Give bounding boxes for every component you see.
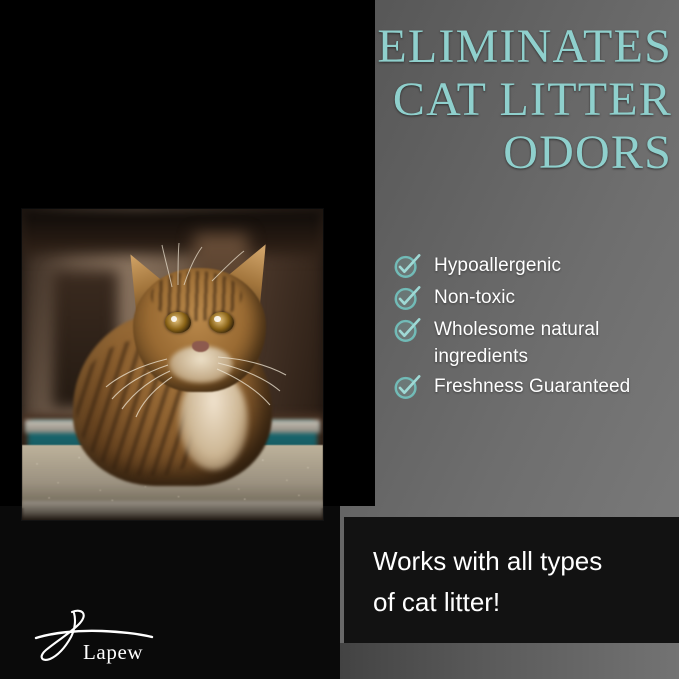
- photo-canvas: [22, 209, 323, 520]
- check-circle-icon: [392, 371, 422, 402]
- bottom-gradient-strip: [340, 643, 679, 679]
- headline-line-1: ELIMINATES: [290, 20, 672, 73]
- callout-line-2: of cat litter!: [373, 582, 665, 623]
- benefit-item: Hypoallergenic: [392, 252, 670, 281]
- photo-litter-tray-edge: [22, 501, 323, 520]
- brand-logo: Lapew: [28, 604, 178, 666]
- photo-background-shadow: [22, 209, 323, 262]
- benefit-label: Wholesome natural ingredients: [434, 316, 670, 370]
- check-circle-icon: [392, 314, 422, 345]
- benefit-item: Non-toxic: [392, 284, 670, 313]
- headline-line-3: ODORS: [290, 126, 672, 179]
- benefit-item: Wholesome natural ingredients: [392, 316, 670, 370]
- headline-line-2: CAT LITTER: [290, 73, 672, 126]
- callout-box: Works with all types of cat litter!: [344, 517, 679, 643]
- photo-kitten-eye-left: [165, 312, 191, 334]
- product-advertisement: ELIMINATES CAT LITTER ODORS: [0, 0, 679, 679]
- callout-line-1: Works with all types: [373, 541, 665, 582]
- benefit-label: Non-toxic: [434, 284, 515, 311]
- benefit-label: Hypoallergenic: [434, 252, 561, 279]
- benefits-list: Hypoallergenic Non-toxic Wholesome natur…: [392, 252, 670, 405]
- headline: ELIMINATES CAT LITTER ODORS: [290, 20, 672, 179]
- benefit-label: Freshness Guaranteed: [434, 373, 630, 400]
- check-circle-icon: [392, 282, 422, 313]
- check-circle-icon: [392, 250, 422, 281]
- callout-text: Works with all types of cat litter!: [373, 541, 665, 623]
- brand-name: Lapew: [83, 640, 143, 665]
- kitten-litter-box-photo: [22, 209, 323, 520]
- benefit-item: Freshness Guaranteed: [392, 373, 670, 402]
